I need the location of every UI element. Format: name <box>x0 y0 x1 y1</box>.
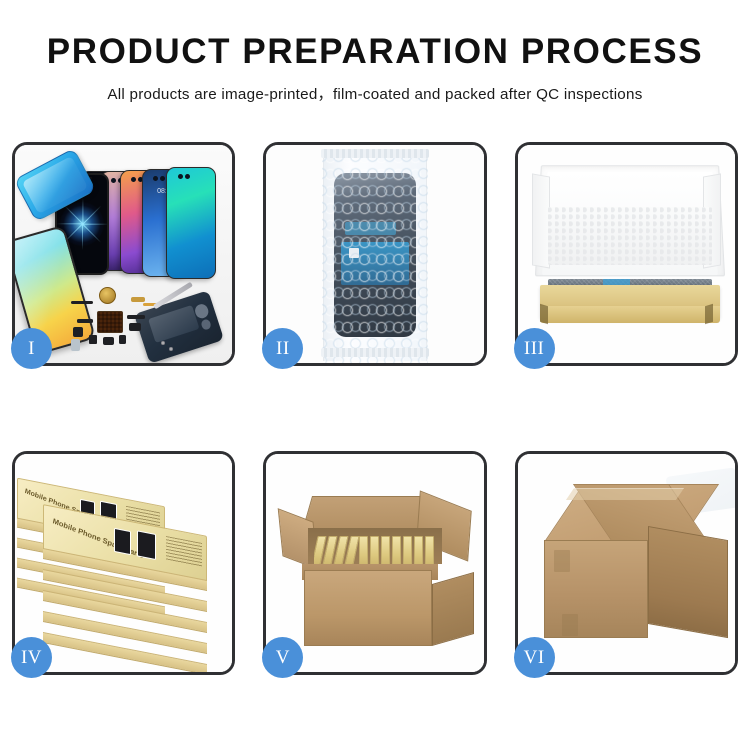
part-button <box>89 335 97 344</box>
bag-seal-top <box>321 149 429 158</box>
carton-side-face <box>432 572 474 646</box>
step-panel-2: II <box>263 142 486 366</box>
mailer-corner-right <box>705 304 713 325</box>
part-bracket-a <box>73 327 83 337</box>
step-badge-1: I <box>11 328 52 369</box>
part-flex-c <box>127 315 145 319</box>
mailer-tray-front <box>540 306 720 323</box>
tweezer-tool <box>153 282 193 310</box>
step-badge-3: III <box>514 328 555 369</box>
step-image-5 <box>266 454 483 672</box>
step-image-2 <box>266 145 483 363</box>
part-earpiece-mesh <box>71 301 93 304</box>
box-spec-lines-front <box>166 536 202 567</box>
step-panel-6: VI <box>515 451 738 675</box>
page-header: PRODUCT PREPARATION PROCESS All products… <box>0 34 750 104</box>
product-preparation-page: PRODUCT PREPARATION PROCESS All products… <box>0 0 750 750</box>
process-row-top: 08:08 <box>12 142 738 366</box>
tape-tab-lower <box>562 614 578 636</box>
tape-tab-upper <box>554 550 570 572</box>
part-connector-a <box>131 297 145 302</box>
phone-screen-1 <box>166 167 216 279</box>
step-image-3 <box>518 145 735 363</box>
step-badge-6: VI <box>514 637 555 678</box>
mailer-flap-left <box>532 173 550 268</box>
process-steps-grid: 08:08 <box>12 142 738 675</box>
bag-seal-bottom <box>321 348 429 357</box>
carton-front-face <box>304 570 432 646</box>
part-camera-module <box>129 323 141 331</box>
spare-parts-cluster <box>69 285 199 357</box>
foam-lining <box>548 207 712 265</box>
carton-right-panel <box>648 526 728 638</box>
screw-2 <box>169 347 173 351</box>
part-sim-tray <box>119 335 126 344</box>
mailer-box-scene <box>518 145 735 363</box>
part-speaker-coil <box>99 287 116 304</box>
sealing-tape-top <box>566 488 684 500</box>
step-image-4: Mobile Phone Spare Parts Mobile Phone Sp… <box>15 454 232 672</box>
box-window-front-1 <box>114 528 131 555</box>
process-row-bottom: Mobile Phone Spare Parts Mobile Phone Sp… <box>12 451 738 675</box>
part-taptic <box>103 337 114 345</box>
part-ic-chip-array <box>97 311 123 333</box>
step-badge-4: IV <box>11 637 52 678</box>
mailer-corner-left <box>540 304 548 325</box>
open-carton-scene <box>266 454 483 672</box>
box-stack-scene: Mobile Phone Spare Parts Mobile Phone Sp… <box>15 454 232 672</box>
sealed-carton-scene <box>518 454 735 672</box>
step-panel-3: III <box>515 142 738 366</box>
screw-1 <box>161 341 165 345</box>
step-image-1: 08:08 <box>15 145 232 363</box>
page-subtitle: All products are image-printed，film-coat… <box>0 82 750 104</box>
step-panel-4: Mobile Phone Spare Parts Mobile Phone Sp… <box>12 451 235 675</box>
part-flex-b <box>77 319 93 323</box>
step-panel-1: 08:08 <box>12 142 235 366</box>
page-title: PRODUCT PREPARATION PROCESS <box>0 34 750 71</box>
step-image-6 <box>518 454 735 672</box>
parts-scene: 08:08 <box>15 145 232 363</box>
box-window-front-2 <box>137 530 156 560</box>
bubble-wrap-scene <box>266 145 483 363</box>
bubble-texture-back <box>322 157 428 363</box>
part-metal-shield <box>71 339 80 351</box>
step-panel-5: V <box>263 451 486 675</box>
